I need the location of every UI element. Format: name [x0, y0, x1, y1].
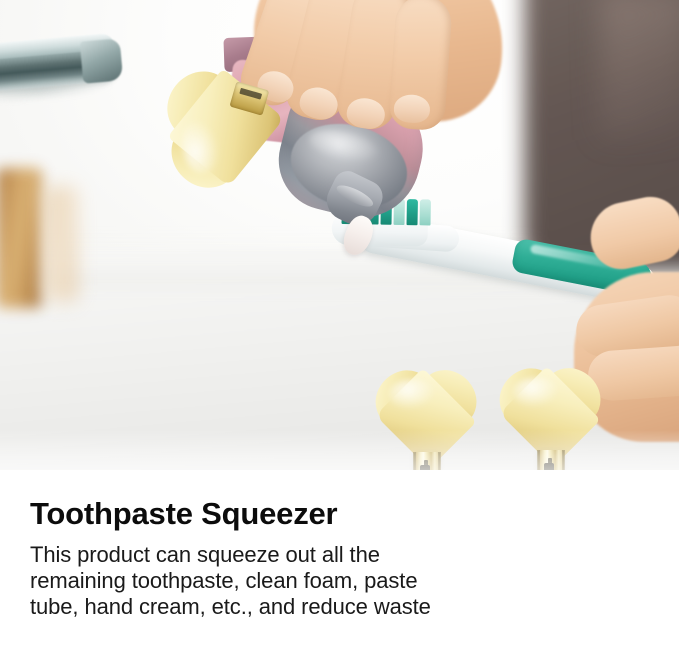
- product-title: Toothpaste Squeezer: [30, 496, 337, 532]
- faucet-mouth: [80, 38, 124, 83]
- torso-highlight: [600, 0, 679, 140]
- blurred-background-object: [44, 186, 78, 302]
- heart-icon: [498, 366, 602, 458]
- product-description: This product can squeeze out all the rem…: [30, 542, 450, 620]
- squeezer-heart-head: [374, 368, 478, 460]
- product-listing-image: Toothpaste Squeezer This product can squ…: [0, 0, 679, 662]
- heart-icon: [374, 368, 478, 460]
- gold-heart-squeezer-in-use: [161, 63, 281, 194]
- squeezer-heart-head: [498, 366, 602, 458]
- blurred-amber-bottle: [0, 168, 42, 308]
- chrome-faucet: [0, 28, 129, 110]
- heart-icon: [161, 63, 281, 194]
- squeezer-neck-body: [229, 81, 269, 115]
- product-photo-scene: [0, 0, 679, 500]
- text-panel: Toothpaste Squeezer This product can squ…: [0, 470, 679, 662]
